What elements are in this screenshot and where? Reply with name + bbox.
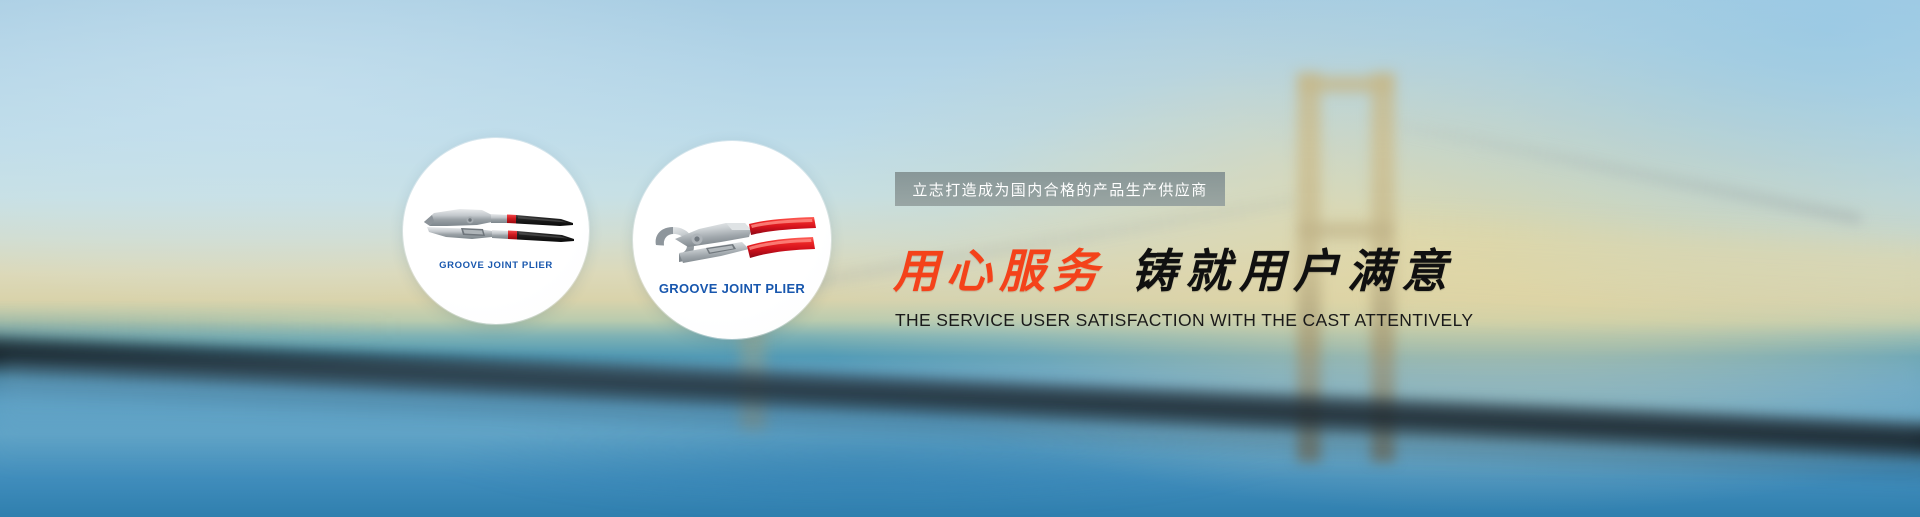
headline: 用心服务 铸就用户满意 [893,248,1455,294]
banner-text-block: 立志打造成为国内合格的产品生产供应商 用心服务 铸就用户满意 THE SERVI… [0,0,1920,517]
tagline-text: 立志打造成为国内合格的产品生产供应商 [912,179,1207,200]
promotional-banner: GROOVE JOINT PLIER [0,0,1920,517]
subheadline-text: THE SERVICE USER SATISFACTION WITH THE C… [895,310,1473,331]
headline-part-one: 用心服务 [893,248,1105,294]
tagline-bar: 立志打造成为国内合格的产品生产供应商 [895,172,1225,206]
headline-part-two: 铸就用户满意 [1131,248,1455,294]
